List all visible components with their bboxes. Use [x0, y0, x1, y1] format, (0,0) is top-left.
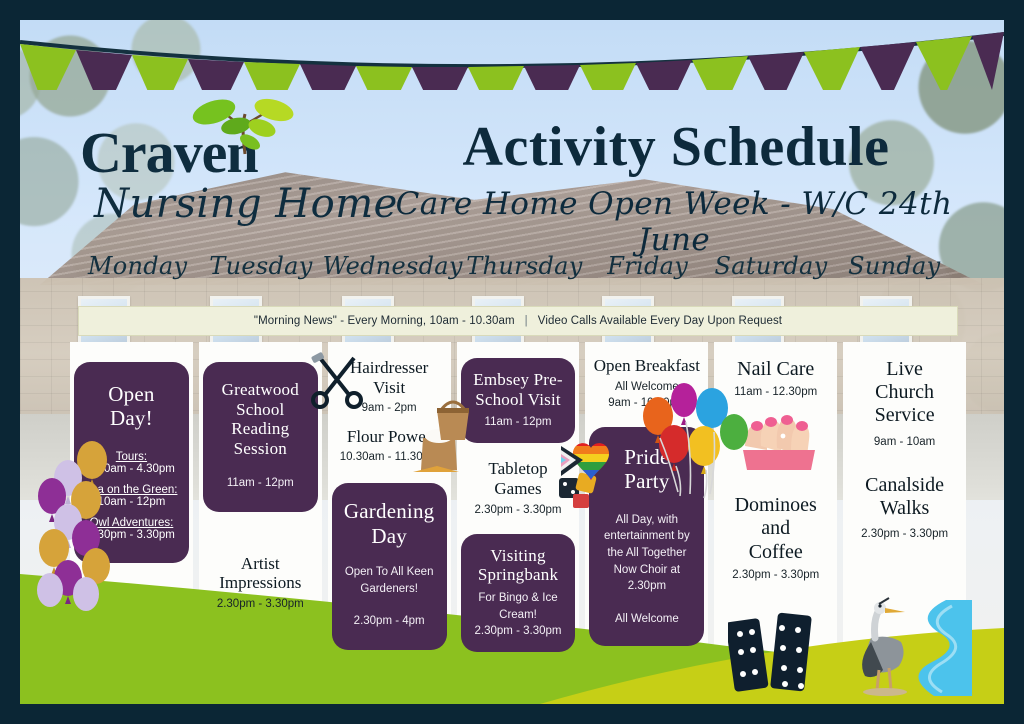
saturday-plain2-title-line2: and	[718, 517, 833, 540]
sunday-plain2-title-line1: Canalside	[847, 474, 962, 497]
notice-bar: "Morning News" - Every Morning, 10am - 1…	[78, 306, 958, 336]
day-header-thursday: Thursday	[463, 252, 586, 280]
wednesday-hairdresser-item[interactable]: Hairdresser Visit 9am - 2pm	[332, 358, 447, 417]
day-header-saturday: Saturday	[709, 252, 832, 280]
wednesday-plain1-time: 9am - 2pm	[332, 400, 447, 416]
wednesday-card-title-line2: Day	[339, 524, 440, 548]
sunday-plain1-time: 9am - 10am	[847, 434, 962, 450]
sapling-leaf-icon	[190, 94, 300, 156]
friday-card-detail-line5: 2.30pm	[597, 578, 696, 595]
friday-card-footer: All Welcome	[597, 611, 696, 628]
friday-open-breakfast-item[interactable]: Open Breakfast All Welcome 9am - 10.30pm	[589, 356, 704, 411]
thursday-plain-title-line1: Tabletop	[461, 459, 576, 479]
friday-card-detail-line1: All Day, with	[597, 512, 696, 529]
thursday-embsey-visit-card[interactable]: Embsey Pre- School Visit 11am - 12pm	[461, 358, 576, 443]
thursday-card1-time: 11am - 12pm	[467, 414, 570, 431]
day-column-friday: Open Breakfast All Welcome 9am - 10.30pm…	[585, 342, 708, 666]
sunday-plain2-title-line2: Walks	[847, 497, 962, 520]
monday-item-2-time: 2.30pm - 3.30pm	[81, 529, 182, 541]
wednesday-plain2-title: Flour Power	[332, 427, 447, 447]
day-header-tuesday: Tuesday	[199, 252, 322, 280]
day-header-sunday: Sunday	[833, 252, 956, 280]
notice-text-right: Video Calls Available Every Day Upon Req…	[538, 315, 782, 327]
monday-card-title-line1: Open	[81, 382, 182, 406]
sunday-plain1-title-line2: Church	[847, 381, 962, 404]
monday-item-2-label: Owl Adventures:	[81, 517, 182, 529]
tuesday-plain-time: 2.30pm - 3.30pm	[203, 596, 318, 612]
sunday-plain2-time: 2.30pm - 3.30pm	[847, 526, 962, 542]
monday-item-0-label: Tours:	[81, 451, 182, 463]
wednesday-card-title-line1: Gardening	[339, 499, 440, 523]
friday-plain-time: 9am - 10.30pm	[589, 395, 704, 411]
monday-item-1-label: Tea on the Green:	[81, 484, 182, 496]
page-subtitle: Care Home Open Week - W/C 24th June	[384, 186, 964, 258]
tuesday-plain-title-line1: Artist	[203, 554, 318, 574]
friday-card-detail-line2: entertainment by	[597, 528, 696, 545]
brand-name-line2: Nursing Home	[94, 184, 420, 224]
thursday-plain-time: 2.30pm - 3.30pm	[461, 502, 576, 518]
day-header-friday: Friday	[586, 252, 709, 280]
saturday-plain1-time: 11am - 12.30pm	[718, 384, 833, 400]
saturday-plain2-title-line1: Dominoes	[718, 494, 833, 517]
wednesday-plain1-title-line2: Visit	[332, 378, 447, 398]
monday-open-day-card[interactable]: Open Day! Tours: 9.30am - 4.30pm Tea on …	[74, 362, 189, 563]
thursday-springbank-card[interactable]: Visiting Springbank For Bingo & Ice Crea…	[461, 534, 576, 652]
notice-separator: |	[515, 315, 538, 327]
friday-pride-party-card[interactable]: Pride Party All Day, with entertainment …	[589, 427, 704, 646]
manicured-hand-icon	[731, 406, 821, 472]
friday-card-detail-line4: Now Choir at	[597, 562, 696, 579]
thursday-card1-title-line1: Embsey Pre-	[467, 370, 570, 390]
wednesday-plain2-time: 10.30am - 11.30am	[332, 449, 447, 465]
friday-card-detail-line3: the All Together	[597, 545, 696, 562]
saturday-plain1-title: Nail Care	[718, 358, 833, 381]
day-header-wednesday: Wednesday	[323, 252, 463, 280]
tuesday-card-title-line4: Session	[210, 439, 311, 459]
thursday-card2-title-line2: Springbank	[467, 565, 570, 585]
friday-card-title-line1: Pride	[597, 445, 696, 469]
sunday-plain1-title-line3: Service	[847, 404, 962, 427]
wednesday-gardening-day-card[interactable]: Gardening Day Open To All Keen Gardeners…	[332, 483, 447, 650]
saturday-nail-care-item[interactable]: Nail Care 11am - 12.30pm	[718, 358, 833, 400]
monday-item-0-time: 9.30am - 4.30pm	[81, 463, 182, 475]
day-header-row: Monday Tuesday Wednesday Thursday Friday…	[76, 252, 956, 280]
tuesday-reading-session-card[interactable]: Greatwood School Reading Session 11am - …	[203, 362, 318, 512]
tuesday-plain-title-line2: Impressions	[203, 573, 318, 593]
thursday-plain-title-line2: Games	[461, 479, 576, 499]
sunday-church-service-item[interactable]: Live Church Service 9am - 10am	[847, 358, 962, 450]
thursday-card1-title-line2: School Visit	[467, 390, 570, 410]
sunday-plain1-title-line1: Live	[847, 358, 962, 381]
tuesday-card-title-line1: Greatwood	[210, 380, 311, 400]
day-column-wednesday: Hairdresser Visit 9am - 2pm Flour Power …	[328, 342, 451, 666]
friday-plain-detail: All Welcome	[589, 379, 704, 395]
brand-logo: Craven Nursing Home	[80, 102, 420, 224]
saturday-plain2-title-line3: Coffee	[718, 541, 833, 564]
saturday-plain2-time: 2.30pm - 3.30pm	[718, 567, 833, 583]
notice-text-left: "Morning News" - Every Morning, 10am - 1…	[254, 315, 515, 327]
wednesday-card-detail-line1: Open To All Keen	[339, 564, 440, 581]
poster-canvas: Craven Nursing Home Activity Schedule Ca…	[20, 20, 1004, 704]
thursday-card2-title-line1: Visiting	[467, 546, 570, 566]
friday-card-title-line2: Party	[597, 469, 696, 493]
thursday-card2-detail-line2: Cream!	[467, 607, 570, 624]
saturday-dominoes-coffee-item[interactable]: Dominoes and Coffee 2.30pm - 3.30pm	[718, 494, 833, 583]
sunday-canalside-walks-item[interactable]: Canalside Walks 2.30pm - 3.30pm	[847, 474, 962, 542]
day-column-thursday: Embsey Pre- School Visit 11am - 12pm Tab…	[457, 342, 580, 666]
thursday-tabletop-games-item[interactable]: Tabletop Games 2.30pm - 3.30pm	[461, 459, 576, 518]
tuesday-artist-impressions-item[interactable]: Artist Impressions 2.30pm - 3.30pm	[203, 554, 318, 613]
page-title: Activity Schedule	[396, 118, 956, 177]
wednesday-plain1-title-line1: Hairdresser	[332, 358, 447, 378]
friday-plain-title: Open Breakfast	[589, 356, 704, 376]
wednesday-flour-power-item[interactable]: Flour Power 10.30am - 11.30am	[332, 427, 447, 466]
day-header-monday: Monday	[76, 252, 199, 280]
tuesday-card-time: 11am - 12pm	[210, 475, 311, 492]
bunting-decoration	[20, 20, 1004, 90]
tuesday-card-title-line2: School	[210, 400, 311, 420]
monday-card-title-line2: Day!	[81, 406, 182, 430]
wednesday-card-detail-line2: Gardeners!	[339, 581, 440, 598]
monday-item-1-time: 10am - 12pm	[81, 496, 182, 508]
thursday-card2-time: 2.30pm - 3.30pm	[467, 623, 570, 640]
thursday-card2-detail-line1: For Bingo & Ice	[467, 590, 570, 607]
wednesday-card-time: 2.30pm - 4pm	[339, 613, 440, 630]
tuesday-card-title-line3: Reading	[210, 419, 311, 439]
